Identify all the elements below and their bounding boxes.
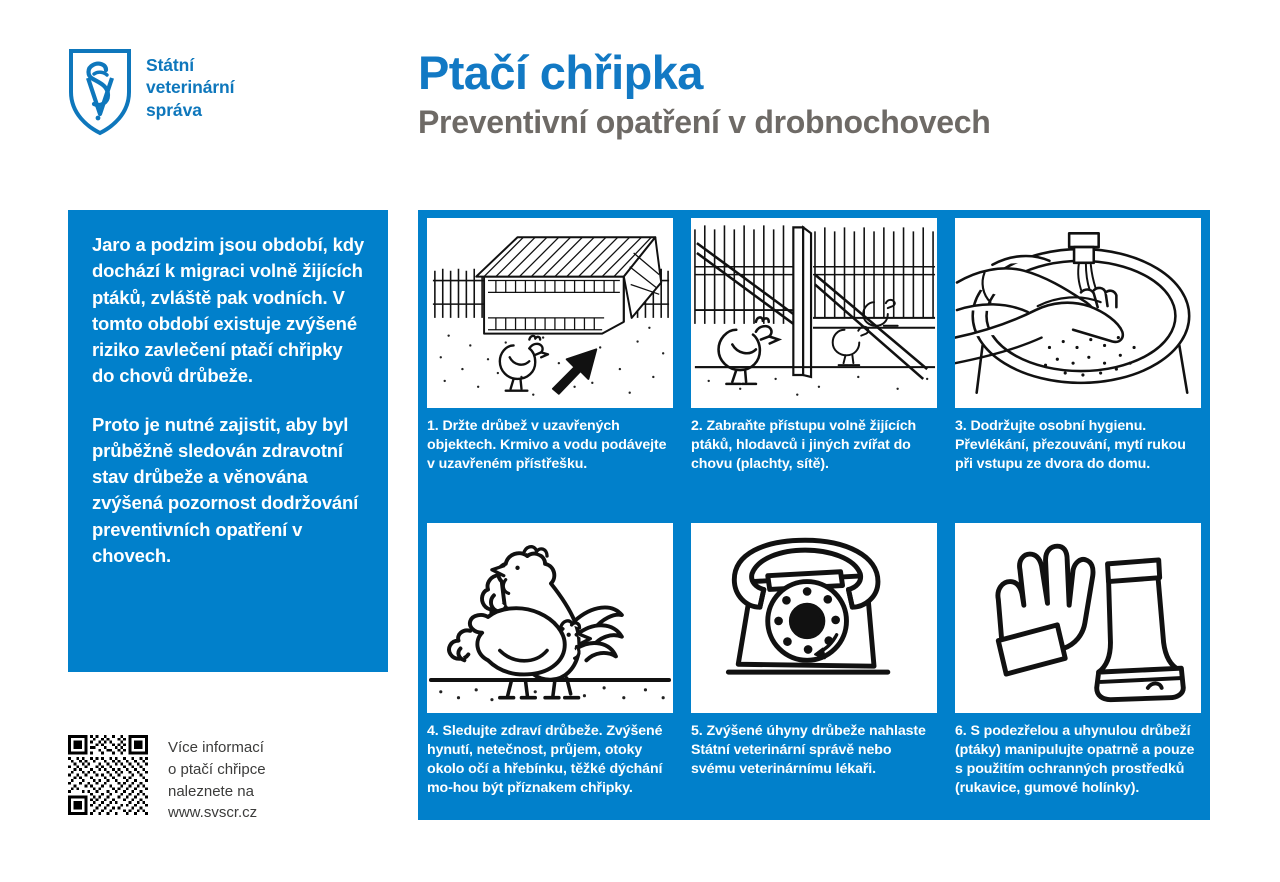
measure-panel-6: 6. S podezřelou a uhynulou drůbeží (pták… [946,515,1210,820]
organization-name: Státní veterinární správa [146,48,234,121]
rooster-and-hen-icon [427,523,673,713]
footer-line-2: o ptačí chřipce [168,759,266,781]
measure-caption-6: 6. S podezřelou a uhynulou drůbeží (pták… [955,722,1201,798]
illustration-hand-washing [955,218,1201,408]
intro-panel: Jaro a podzim jsou období, kdy dochází k… [68,210,388,672]
illustration-telephone [691,523,937,713]
protective-glove-and-rubber-boot-icon [955,523,1201,713]
prevention-measures-grid: 1. Držte drůbež v uzavřených objektech. … [418,210,1210,820]
shield-snake-veterinary-logo-icon [68,48,132,136]
poultry-house-with-fence-and-chicken-icon [427,218,673,408]
measure-panel-4: 4. Sledujte zdraví drůbeže. Zvýšené hynu… [418,515,682,820]
logo-line-3: správa [146,99,234,121]
illustration-protective-equipment [955,523,1201,713]
poster-header: Státní veterinární správa Ptačí chřipka … [0,0,1280,190]
title-block: Ptačí chřipka Preventivní opatření v dro… [418,48,990,141]
footer-website-url: www.svscr.cz [168,802,266,824]
logo-line-2: veterinární [146,76,234,98]
footer-line-3: naleznete na [168,781,266,803]
illustration-rooster-and-hen [427,523,673,713]
measure-panel-3: 3. Dodržujte osobní hygienu. Převlékání,… [946,210,1210,515]
measure-panel-5: 5. Zvýšené úhyny drůbeže nahlaste Státní… [682,515,946,820]
measure-panel-2: 2. Zabraňte přístupu volně žijících pták… [682,210,946,515]
measure-caption-4: 4. Sledujte zdraví drůbeže. Zvýšené hynu… [427,722,673,798]
measure-caption-3: 3. Dodržujte osobní hygienu. Převlékání,… [955,417,1201,474]
intro-paragraph-2: Proto je nutné zajistit, aby byl průběžn… [92,412,366,570]
measure-panel-1: 1. Držte drůbež v uzavřených objektech. … [418,210,682,515]
measure-caption-1: 1. Držte drůbež v uzavřených objektech. … [427,417,673,474]
footer-info: Více informací o ptačí chřipce naleznete… [68,735,266,824]
hands-washing-under-tap-icon [955,218,1201,408]
intro-paragraph-1: Jaro a podzim jsou období, kdy dochází k… [92,232,366,390]
page-title: Ptačí chřipka [418,48,990,97]
illustration-fenced-coop [691,218,937,408]
measure-caption-5: 5. Zvýšené úhyny drůbeže nahlaste Státní… [691,722,937,779]
page-subtitle: Preventivní opatření v drobnochovech [418,105,990,140]
qr-code-icon [68,735,148,815]
footer-line-1: Více informací [168,737,266,759]
measure-caption-2: 2. Zabraňte přístupu volně žijících pták… [691,417,937,474]
organization-logo: Státní veterinární správa [68,48,234,136]
footer-text: Více informací o ptačí chřipce naleznete… [168,735,266,824]
rotary-dial-telephone-icon [691,523,937,713]
logo-line-1: Státní [146,54,234,76]
chickens-behind-wooden-fence-netting-icon [691,218,937,408]
illustration-poultry-house [427,218,673,408]
